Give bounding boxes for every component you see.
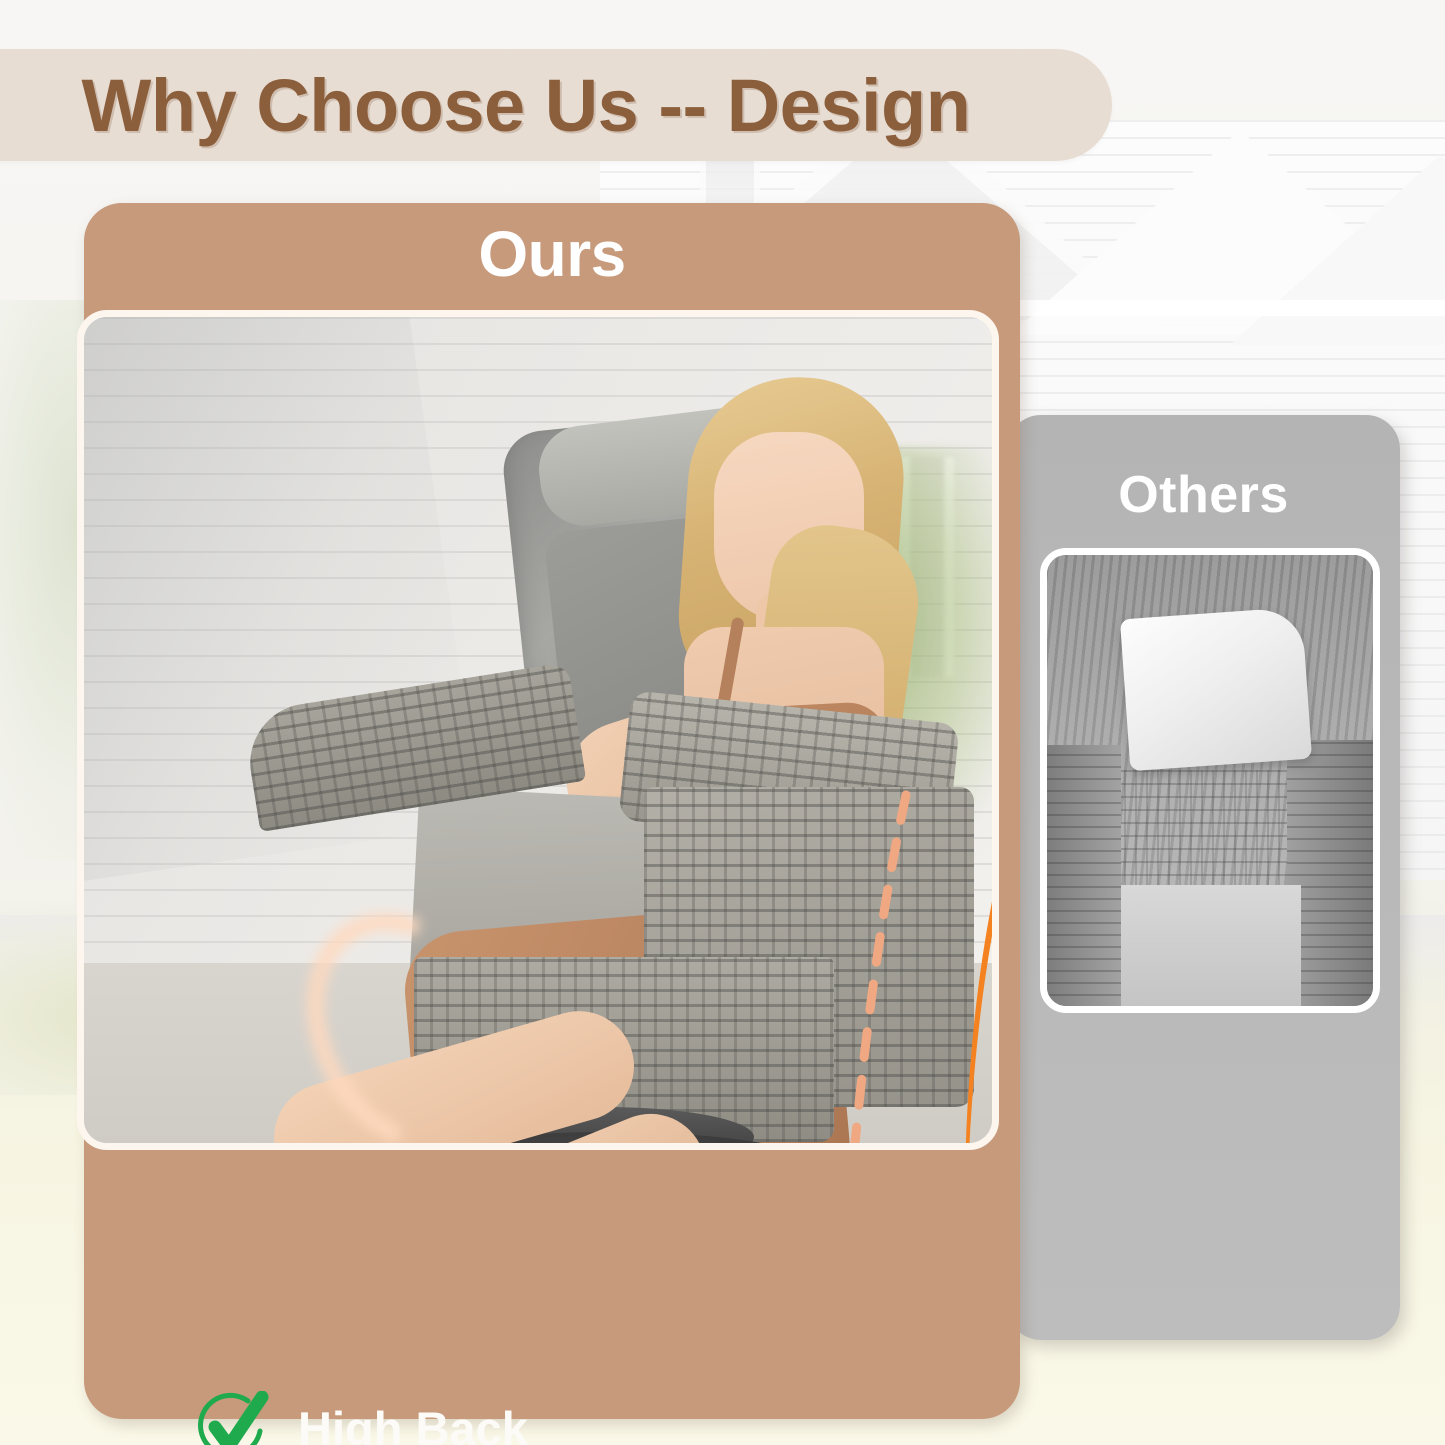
- ours-panel-title: Ours: [84, 217, 1020, 291]
- others-sofa-white-cushion: [1120, 607, 1312, 771]
- background-roof-gable-right: [1230, 155, 1445, 345]
- others-panel: Others Short Back Straight Back: [1007, 415, 1400, 1340]
- feature-item-high-back: High Back: [196, 1391, 528, 1445]
- page-title: Why Choose Us -- Design: [0, 49, 1052, 161]
- ours-product-photo: [77, 310, 999, 1150]
- feature-label: High Back: [298, 1401, 528, 1445]
- title-banner: Why Choose Us -- Design: [0, 49, 1112, 161]
- others-panel-title: Others: [1007, 465, 1400, 525]
- others-sofa-seat-gap: [1121, 885, 1301, 1013]
- ours-panel: Ours: [84, 203, 1020, 1419]
- check-circle-icon: [196, 1391, 270, 1445]
- others-product-photo: [1040, 548, 1380, 1013]
- others-sofa-left-arm: [1047, 745, 1121, 1013]
